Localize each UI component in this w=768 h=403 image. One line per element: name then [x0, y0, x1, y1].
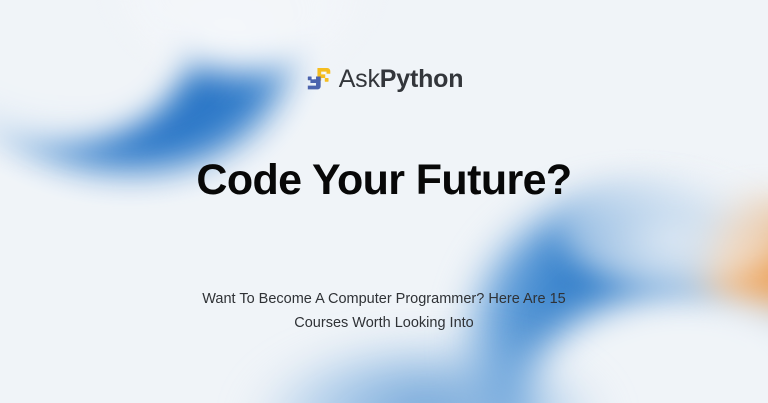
- logo-text-ask: Ask: [339, 65, 380, 93]
- askpython-logo-icon: [305, 65, 333, 93]
- logo-text-python: Python: [380, 65, 464, 93]
- askpython-wordmark: AskPython: [339, 67, 464, 92]
- askpython-logo[interactable]: AskPython: [305, 64, 464, 94]
- page-subtitle: Want To Become A Computer Programmer? He…: [174, 288, 594, 336]
- banner-content: AskPython Code Your Future? Want To Beco…: [0, 0, 768, 403]
- page-title: Code Your Future?: [0, 157, 768, 204]
- article-hero-banner: AskPython Code Your Future? Want To Beco…: [0, 0, 768, 403]
